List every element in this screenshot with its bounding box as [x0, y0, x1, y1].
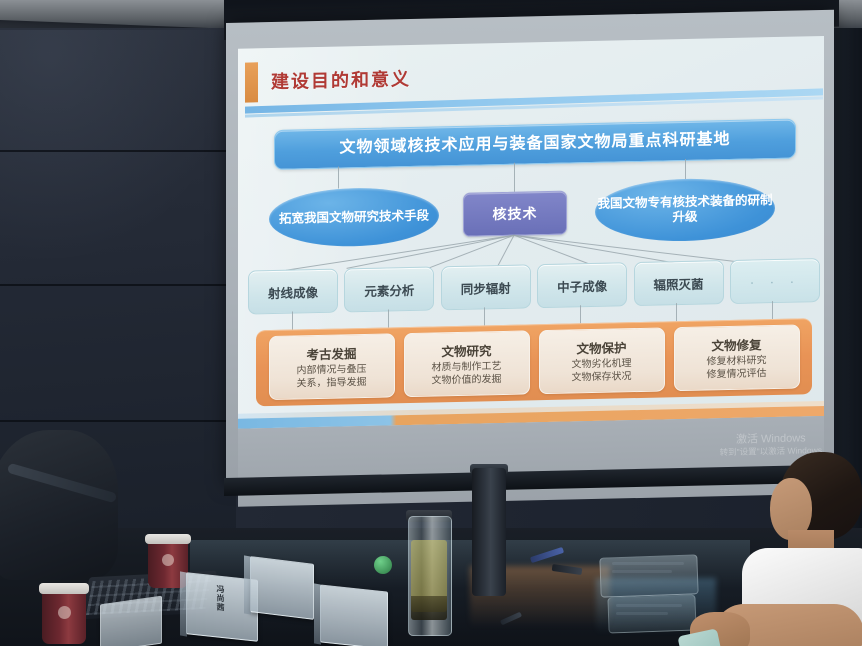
name-plate — [100, 596, 162, 646]
paper-line — [616, 612, 668, 615]
application-card: 文物研究 材质与制作工艺 文物价值的发掘 — [404, 330, 530, 397]
slide-title: 建设目的和意义 — [271, 65, 411, 94]
presentation-slide: 建设目的和意义 文物领域核技术应用与装备国家文物局重点科研基地 拓宽我国文物研究… — [238, 36, 824, 429]
tech-node: 中子成像 — [537, 262, 627, 308]
tech-node-ellipsis: · · · — [730, 258, 820, 304]
application-card: 文物保护 文物劣化机理 文物保存状况 — [539, 327, 665, 394]
node-label: 拓宽我国文物研究技术手段 — [279, 208, 429, 226]
application-line: 关系，指导发掘 — [297, 376, 367, 390]
application-line: 文物保存状况 — [572, 371, 632, 385]
tech-node: 辐照灭菌 — [634, 260, 724, 306]
wall-seam — [0, 150, 236, 152]
black-thermos — [472, 468, 506, 596]
indicator-light — [374, 556, 392, 574]
wall-seam — [0, 284, 236, 286]
application-heading: 文物修复 — [711, 334, 761, 354]
tech-node: 射线成像 — [248, 269, 338, 315]
name-plate-text: 冯尚茜 — [215, 584, 226, 612]
paper-line — [616, 604, 682, 607]
title-accent-bar — [245, 62, 258, 102]
connector-root-mid — [514, 163, 515, 192]
application-card: 考古发掘 内部情况与叠压 关系，指导发掘 — [269, 333, 395, 400]
paper-line — [612, 570, 672, 573]
document-tray — [599, 554, 698, 597]
conference-room-photo: 建设目的和意义 文物领域核技术应用与装备国家文物局重点科研基地 拓宽我国文物研究… — [0, 0, 862, 646]
wall-seam — [0, 420, 236, 422]
projection-screen: 建设目的和意义 文物领域核技术应用与装备国家文物局重点科研基地 拓宽我国文物研究… — [224, 0, 839, 502]
coffee-cup-logo — [58, 606, 71, 619]
connector-tech-app — [580, 305, 581, 323]
tea-leaves — [411, 596, 447, 620]
node-nuclear-technology: 核技术 — [463, 191, 567, 237]
application-heading: 文物保护 — [576, 337, 626, 357]
tech-node: 元素分析 — [344, 266, 434, 312]
connector-root-left — [338, 167, 339, 189]
connector-fan — [429, 235, 514, 269]
coffee-cup-lid — [145, 534, 191, 544]
application-bar: 考古发掘 内部情况与叠压 关系，指导发掘 文物研究 材质与制作工艺 文物价值的发… — [256, 318, 812, 406]
office-chair — [0, 430, 118, 580]
seated-person — [742, 452, 862, 646]
name-plate — [250, 556, 314, 620]
node-equipment-upgrade: 我国文物专有核技术装备的研制升级 — [595, 177, 775, 243]
connector-root-right — [685, 159, 686, 179]
node-label: 我国文物专有核技术装备的研制升级 — [595, 193, 775, 226]
tech-node: 同步辐射 — [441, 264, 531, 310]
wall-sheen — [0, 30, 250, 280]
screen-surface: 建设目的和意义 文物领域核技术应用与装备国家文物局重点科研基地 拓宽我国文物研究… — [226, 10, 834, 485]
application-heading: 文物研究 — [441, 340, 491, 360]
connector-tech-app — [484, 307, 485, 325]
coffee-cup-logo — [162, 554, 174, 566]
node-label: 核技术 — [493, 205, 538, 222]
connector-tech-app — [388, 309, 389, 327]
application-line: 修复情况评估 — [707, 368, 767, 382]
connector-tech-app — [772, 301, 773, 319]
connector-tech-app — [676, 303, 677, 321]
name-plate — [320, 584, 388, 646]
name-plate-leg — [314, 583, 321, 644]
application-line: 文物价值的发掘 — [432, 373, 502, 387]
name-plate-leg — [244, 555, 251, 614]
name-plate-leg — [180, 571, 187, 636]
application-card: 文物修复 修复材料研究 修复情况评估 — [674, 324, 800, 391]
application-heading: 考古发掘 — [306, 343, 356, 363]
paper-line — [612, 562, 684, 565]
connector-tech-app — [292, 312, 293, 330]
person-ear — [798, 496, 818, 522]
coffee-cup-lid — [39, 583, 89, 594]
